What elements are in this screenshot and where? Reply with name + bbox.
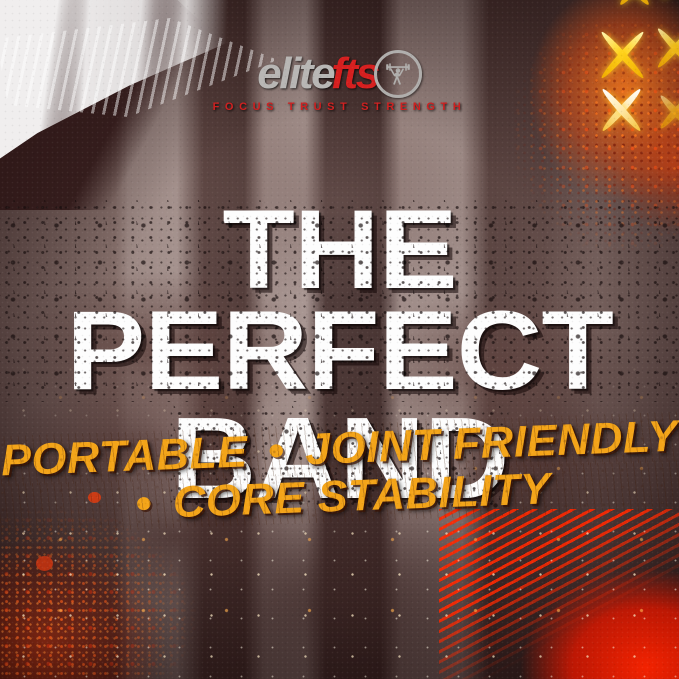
- x-sparkle-icon: [613, 0, 655, 10]
- brand-tagline: FOCUS TRUST STRENGTH: [213, 101, 467, 113]
- x-sparkle-icon: [655, 0, 679, 4]
- bullet-separator-icon: [270, 444, 284, 457]
- weightlifter-barbell-icon: [374, 50, 422, 98]
- headline-line-1: THE PERFECT: [0, 200, 679, 402]
- feature-list: PORTABLE JOINT FRIENDLY CORE STABILITY: [0, 424, 679, 522]
- bullet-separator-icon: [137, 497, 151, 510]
- promo-poster: elite fts FOCUS TRUST STRENGTH: [0, 0, 679, 679]
- brand-logo[interactable]: elite fts FOCUS TRUST STRENGTH: [0, 50, 679, 113]
- headline-line-1-wrap: THE PERFECT: [0, 200, 679, 402]
- logo-word-elite: elite: [257, 54, 333, 94]
- logo-word-fts: fts: [331, 54, 378, 94]
- logo-wordmark-row: elite fts: [257, 50, 422, 98]
